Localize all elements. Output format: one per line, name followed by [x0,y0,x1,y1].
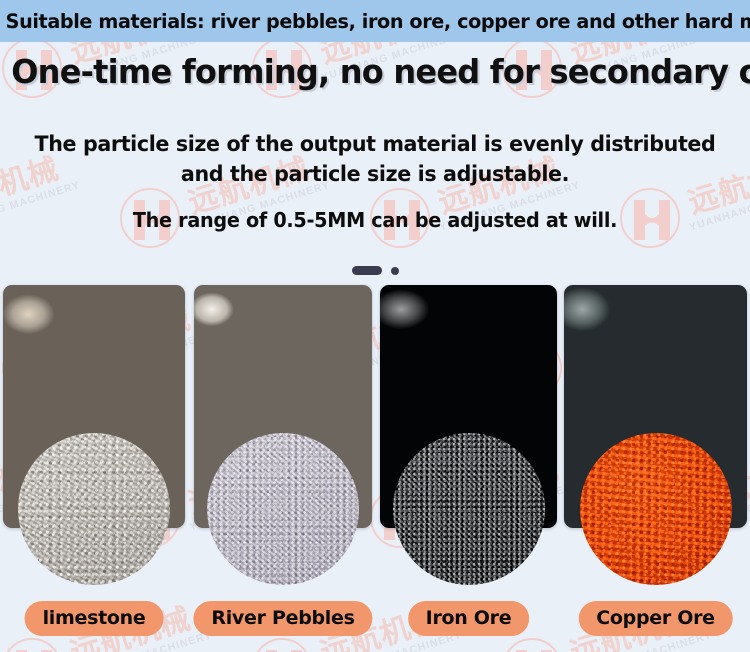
copper-powder-circle [580,433,732,585]
limestone-powder-circle [18,433,170,585]
carousel-pagination[interactable] [0,266,750,275]
subtitle-text: The particle size of the output material… [15,130,735,190]
top-banner: Suitable materials: river pebbles, iron … [0,0,750,42]
range-text: The range of 0.5-5MM can be adjusted at … [15,208,735,232]
page-title: One-time forming, no need for secondary … [11,52,739,91]
material-label-limestone[interactable]: limestone [25,601,164,636]
material-label-iron-ore[interactable]: Iron Ore [408,601,530,636]
iron-ore-sand-circle [393,433,545,585]
pagination-dot-2[interactable] [391,267,399,275]
pebble-sand-circle [207,433,359,585]
material-label-river-pebbles[interactable]: River Pebbles [193,601,372,636]
promo-banner-page: 远航机械YUANHANG MACHINERY远航机械YUANHANG MACHI… [0,0,750,652]
pagination-dot-active[interactable] [352,266,382,275]
banner-text: Suitable materials: river pebbles, iron … [6,10,745,33]
material-label-copper-ore[interactable]: Copper Ore [578,601,732,636]
material-card-row: limestone River Pebbles Iron Ore [0,0,750,652]
